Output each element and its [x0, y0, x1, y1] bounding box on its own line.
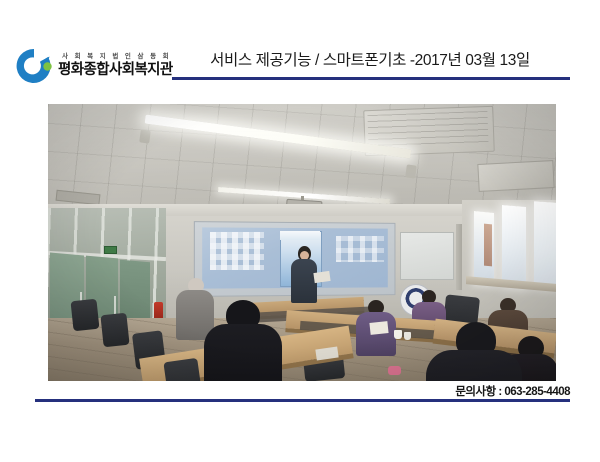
page-title: 서비스 제공기능 / 스마트폰기초 -2017년 03월 13일 [170, 48, 570, 70]
logo-text-wrap: 사 회 복 지 법 인 삼 동 회 평화종합사회복지관 [58, 52, 188, 79]
contact-info: 문의사항 : 063-285-4408 [330, 383, 570, 399]
logo-organization-name: 평화종합사회복지관 [58, 62, 188, 79]
organization-logo-block: 사 회 복 지 법 인 삼 동 회 평화종합사회복지관 [12, 44, 187, 96]
classroom-photo [48, 104, 556, 381]
title-divider [172, 77, 570, 80]
photo-vignette [48, 104, 556, 381]
footer-divider [35, 399, 570, 402]
ring-logo-icon [14, 46, 54, 86]
slide-page: 사 회 복 지 법 인 삼 동 회 평화종합사회복지관 서비스 제공기능 / 스… [0, 0, 600, 462]
